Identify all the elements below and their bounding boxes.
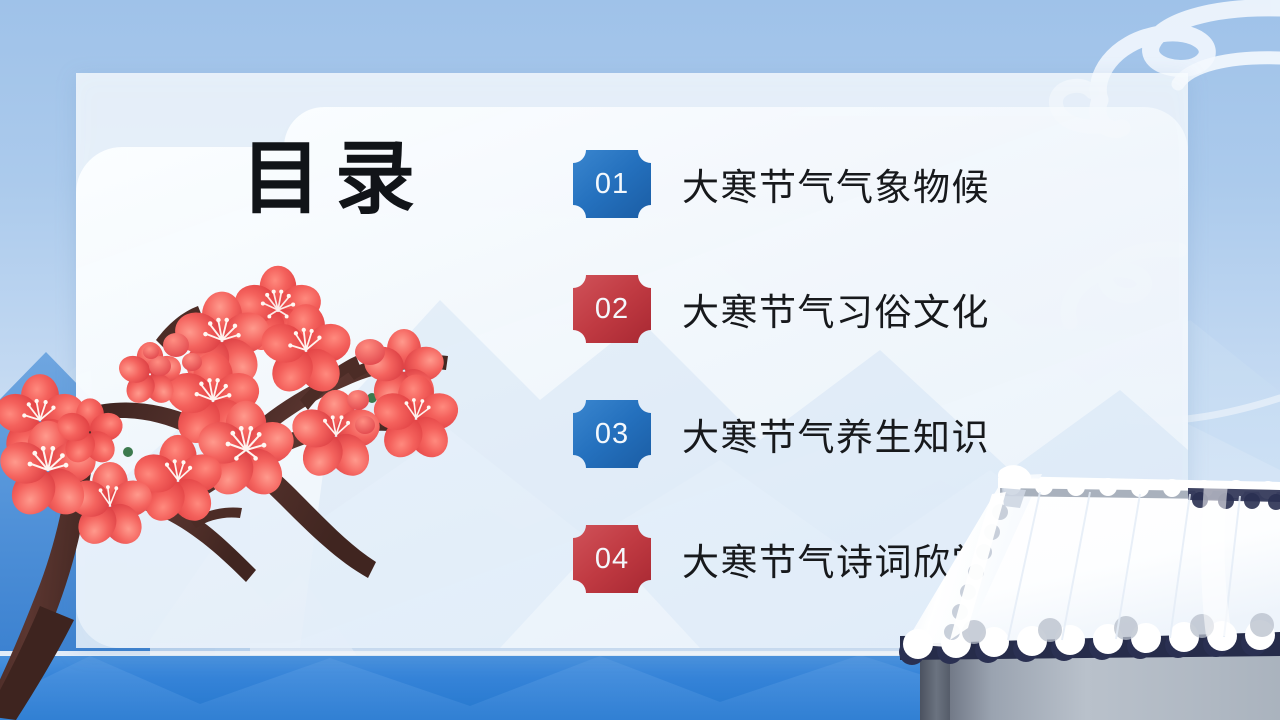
badge-number: 01 — [595, 168, 629, 201]
toc-item-label: 大寒节气气象物候 — [682, 157, 990, 211]
badge-02: 02 — [573, 273, 651, 345]
badge-number: 02 — [595, 293, 629, 326]
page-title: 目录 — [170, 140, 500, 220]
badge-number: 04 — [595, 543, 629, 576]
badge-04: 04 — [573, 523, 651, 595]
slide-canvas: 目录 01 大寒节气气象物候 — [0, 0, 1280, 720]
toc-item-label: 大寒节气习俗文化 — [682, 282, 990, 336]
toc-item-label: 大寒节气诗词欣赏 — [682, 532, 990, 586]
toc-item-03[interactable]: 03 大寒节气养生知识 — [573, 395, 1093, 473]
toc-list: 01 大寒节气气象物候 02 大寒节气习俗文化 — [573, 145, 1093, 598]
toc-item-label: 大寒节气养生知识 — [682, 407, 990, 461]
badge-01: 01 — [573, 148, 651, 220]
badge-number: 03 — [595, 418, 629, 451]
toc-item-04[interactable]: 04 大寒节气诗词欣赏 — [573, 520, 1093, 598]
toc-item-01[interactable]: 01 大寒节气气象物候 — [573, 145, 1093, 223]
toc-item-02[interactable]: 02 大寒节气习俗文化 — [573, 270, 1093, 348]
badge-03: 03 — [573, 398, 651, 470]
